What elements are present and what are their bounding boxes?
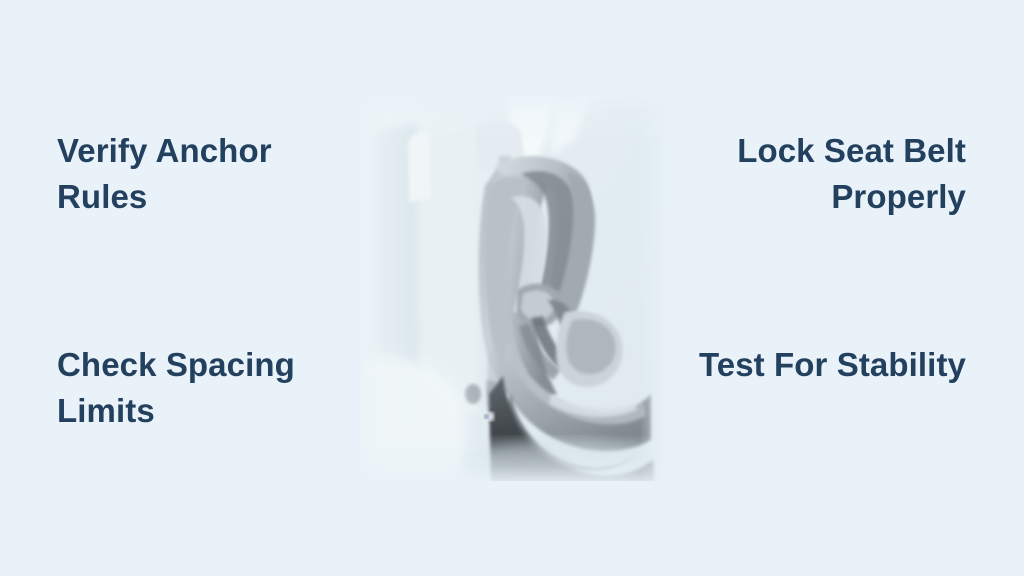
- child-car-seat-illustration: [361, 94, 664, 481]
- callout-bottom-right: Test For Stability: [676, 342, 966, 388]
- child-car-seat-photo: [361, 94, 664, 481]
- callout-top-left: Verify Anchor Rules: [57, 128, 347, 220]
- slide-canvas: Verify Anchor Rules Lock Seat Belt Prope…: [0, 0, 1024, 576]
- callout-top-right: Lock Seat Belt Properly: [676, 128, 966, 220]
- callout-bottom-left: Check Spacing Limits: [57, 342, 347, 434]
